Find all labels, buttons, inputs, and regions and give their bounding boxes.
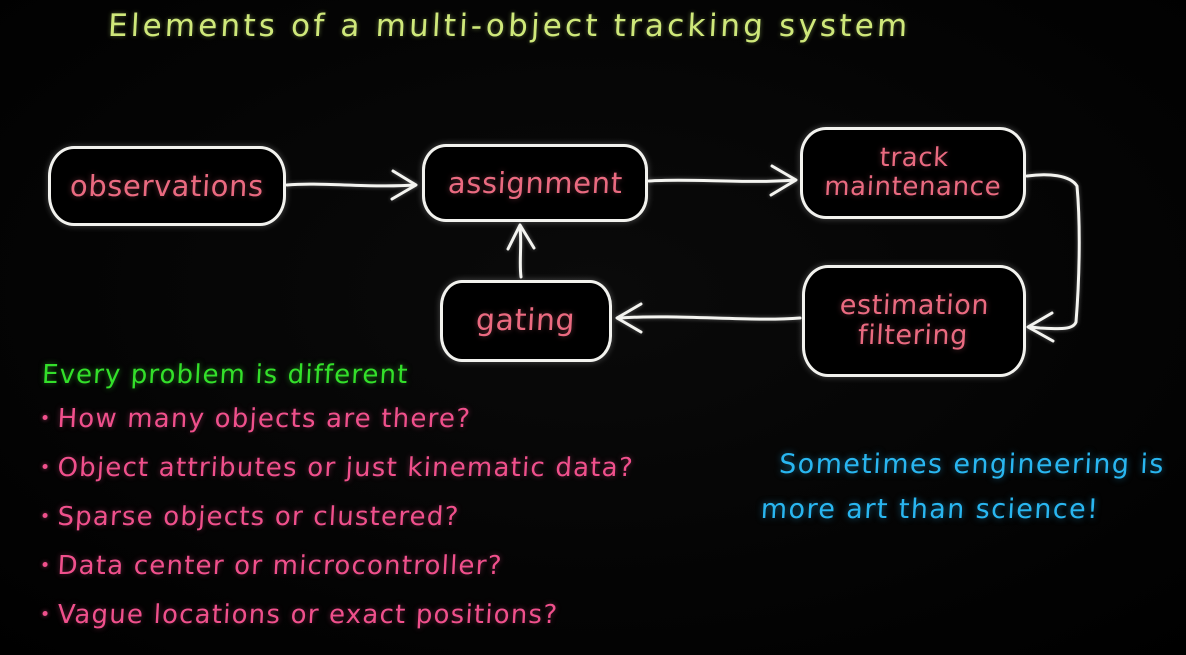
bullet-dot-icon	[42, 562, 47, 567]
node-estimation-label-line2: filtering	[838, 321, 989, 351]
list-item: How many objects are there?	[41, 404, 744, 453]
edge-assignment-to-track-maintenance	[649, 166, 796, 195]
node-track-maintenance[interactable]: track maintenance	[800, 127, 1026, 219]
bullet-dot-icon	[42, 415, 47, 420]
node-track-maintenance-label-line2: maintenance	[823, 173, 1001, 202]
list-item-label: Data center or microcontroller?	[57, 551, 504, 581]
node-observations-label: observations	[69, 170, 265, 202]
node-observations[interactable]: observations	[48, 146, 286, 226]
list-item: Sparse objects or clustered?	[41, 502, 744, 551]
list-item: Data center or microcontroller?	[41, 551, 744, 600]
node-assignment[interactable]: assignment	[422, 144, 648, 222]
list-item-label: Vague locations or exact positions?	[57, 600, 559, 630]
list-item-label: How many objects are there?	[57, 404, 472, 434]
aside-note-line1: Sometimes engineering is	[762, 443, 1174, 488]
node-estimation-filtering-label: estimation filtering	[838, 291, 991, 351]
bullet-dot-icon	[42, 611, 47, 616]
node-estimation-filtering[interactable]: estimation filtering	[802, 265, 1026, 377]
node-assignment-label: assignment	[447, 167, 623, 199]
whiteboard-canvas: Elements of a multi-object tracking syst…	[0, 0, 1186, 655]
node-gating[interactable]: gating	[440, 280, 612, 362]
list-item: Object attributes or just kinematic data…	[41, 453, 744, 502]
edge-observations-to-assignment	[287, 171, 416, 199]
aside-note: Sometimes engineering is more art than s…	[760, 443, 1175, 532]
list-item: Vague locations or exact positions?	[41, 600, 744, 649]
list-item-label: Sparse objects or clustered?	[57, 502, 461, 532]
node-track-maintenance-label: track maintenance	[823, 144, 1003, 202]
bullet-dot-icon	[42, 513, 47, 518]
bullet-dot-icon	[42, 464, 47, 469]
notes-heading: Every problem is different	[41, 360, 409, 390]
edge-estimation-to-gating	[617, 304, 800, 332]
edge-track-maintenance-to-estimation	[1027, 175, 1079, 341]
node-track-maintenance-label-line1: track	[825, 144, 1003, 173]
notes-bullet-list: How many objects are there? Object attri…	[42, 404, 742, 649]
node-estimation-label-line1: estimation	[839, 291, 990, 321]
edge-gating-to-assignment	[508, 225, 534, 277]
aside-note-line2: more art than science!	[760, 488, 1172, 533]
page-title: Elements of a multi-object tracking syst…	[107, 8, 911, 44]
node-gating-label: gating	[476, 304, 577, 338]
list-item-label: Object attributes or just kinematic data…	[57, 453, 635, 483]
